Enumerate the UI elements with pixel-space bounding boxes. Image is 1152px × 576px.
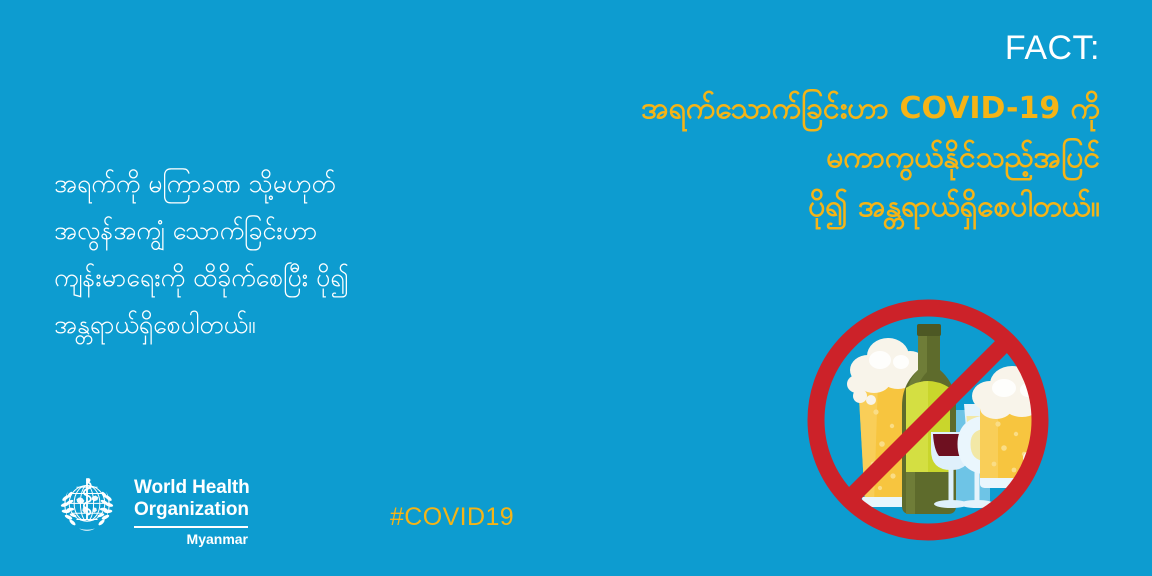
who-divider-rule — [134, 526, 248, 528]
hashtag-covid19: #COVID19 — [390, 503, 514, 532]
who-country-label: Myanmar — [134, 532, 248, 547]
fact-headline: အရက်သောက်ခြင်းဟာ COVID-19 ကို မကာကွယ်နို… — [460, 85, 1100, 231]
who-wordmark: World Health Organization Myanmar — [134, 473, 250, 547]
fact-block: FACT: အရက်သောက်ခြင်းဟာ COVID-19 ကို မကာက… — [460, 30, 1100, 231]
who-organization-name: World Health Organization — [134, 477, 250, 521]
body-block: အရက်ကို မကြာခဏ သို့မဟုတ် အလွန်အကျွံ သောက… — [54, 160, 524, 348]
poster-canvas: FACT: အရက်သောက်ခြင်းဟာ COVID-19 ကို မကာက… — [0, 0, 1152, 576]
no-alcohol-illustration — [800, 292, 1056, 548]
body-text: အရက်ကို မကြာခဏ သို့မဟုတ် အလွန်အကျွံ သောက… — [54, 160, 524, 348]
who-emblem-icon — [54, 473, 120, 539]
who-logo: World Health Organization Myanmar — [54, 473, 250, 547]
fact-label: FACT: — [460, 30, 1100, 67]
